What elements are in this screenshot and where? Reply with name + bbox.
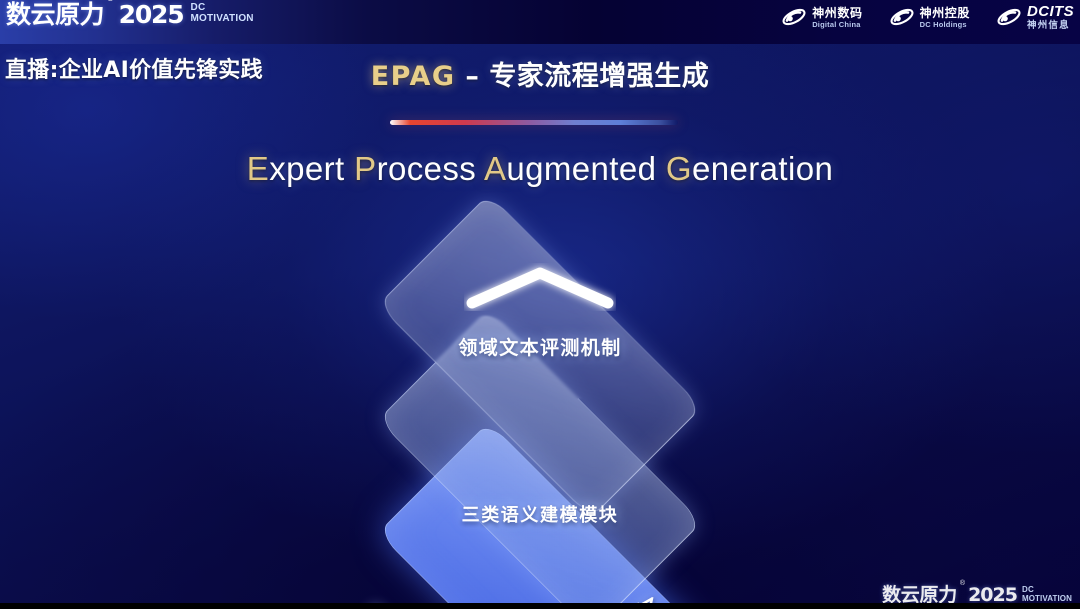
brand-dc-motivation: DC MOTIVATION	[190, 3, 253, 24]
gradient-divider	[390, 120, 678, 125]
brand-year: 2025	[119, 2, 184, 27]
registered-mark: ®	[107, 0, 114, 3]
watermark-registered-mark: ®	[960, 580, 965, 587]
isometric-layer-stack: 领域文本评测机制 Dynamic MOE 长文本记忆 三类语义建模模块	[0, 205, 1080, 595]
partner-name-en: Digital China	[812, 21, 862, 29]
watermark-dc-motivation: DC MOTIVATION	[1022, 586, 1072, 603]
subtitle-rest-process: rocess	[377, 150, 477, 187]
partner-logo-dc-holdings: 神州控股 DC Holdings	[889, 5, 970, 29]
partner-logo-dcits: DCITS 神州信息	[996, 4, 1074, 31]
partner-logo-group: 神州数码 Digital China 神州控股 DC Holdings	[781, 4, 1074, 31]
header-bar: 数云原力 ® 2025 DC MOTIVATION 神州数码	[0, 0, 1080, 44]
partner-text: DCITS 神州信息	[1027, 4, 1074, 31]
layer-label-top: 领域文本评测机制	[0, 333, 1080, 360]
swirl-icon	[781, 5, 807, 29]
title-chinese: 专家流程增强生成	[489, 61, 709, 92]
subtitle-rest-expert: xpert	[269, 150, 344, 187]
partner-logo-digital-china: 神州数码 Digital China	[781, 5, 862, 29]
subtitle-cap-e: E	[247, 150, 269, 187]
title-separator: –	[456, 61, 490, 92]
partner-name-cn: 神州数码	[812, 7, 862, 19]
subtitle-rest-generation: eneration	[692, 150, 833, 187]
brand-dc-line2: MOTIVATION	[190, 13, 253, 24]
subtitle-english: Expert Process Augmented Generation	[0, 150, 1080, 188]
bottom-edge	[0, 603, 1080, 609]
partner-name-en: DC Holdings	[920, 21, 970, 29]
title-acronym: EPAG	[371, 61, 456, 92]
subtitle-cap-a: A	[484, 150, 506, 187]
partner-name-en: DCITS	[1027, 4, 1074, 19]
subtitle-rest-augmented: ugmented	[506, 150, 656, 187]
partner-text: 神州数码 Digital China	[812, 7, 862, 29]
swirl-icon	[996, 5, 1022, 29]
subtitle-cap-p: P	[354, 150, 376, 187]
brand-dc-line1: DC	[190, 3, 253, 13]
layer-label-bottom: 三类语义建模模块	[0, 501, 1080, 527]
live-stream-title: 直播:企业AI价值先锋实践	[5, 52, 263, 84]
subtitle-cap-g: G	[666, 150, 692, 187]
partner-text: 神州控股 DC Holdings	[920, 7, 970, 29]
partner-name-cn: 神州信息	[1027, 21, 1074, 31]
watermark-dc-line2: MOTIVATION	[1022, 594, 1072, 603]
swirl-icon	[889, 5, 915, 29]
brand-logo: 数云原力 ® 2025 DC MOTIVATION	[6, 2, 254, 27]
brand-name-cn: 数云原力	[6, 2, 104, 27]
partner-name-cn: 神州控股	[920, 7, 970, 19]
slide-canvas: 数云原力 ® 2025 DC MOTIVATION 神州数码	[0, 0, 1080, 609]
watermark-dc-line1: DC	[1022, 586, 1072, 594]
